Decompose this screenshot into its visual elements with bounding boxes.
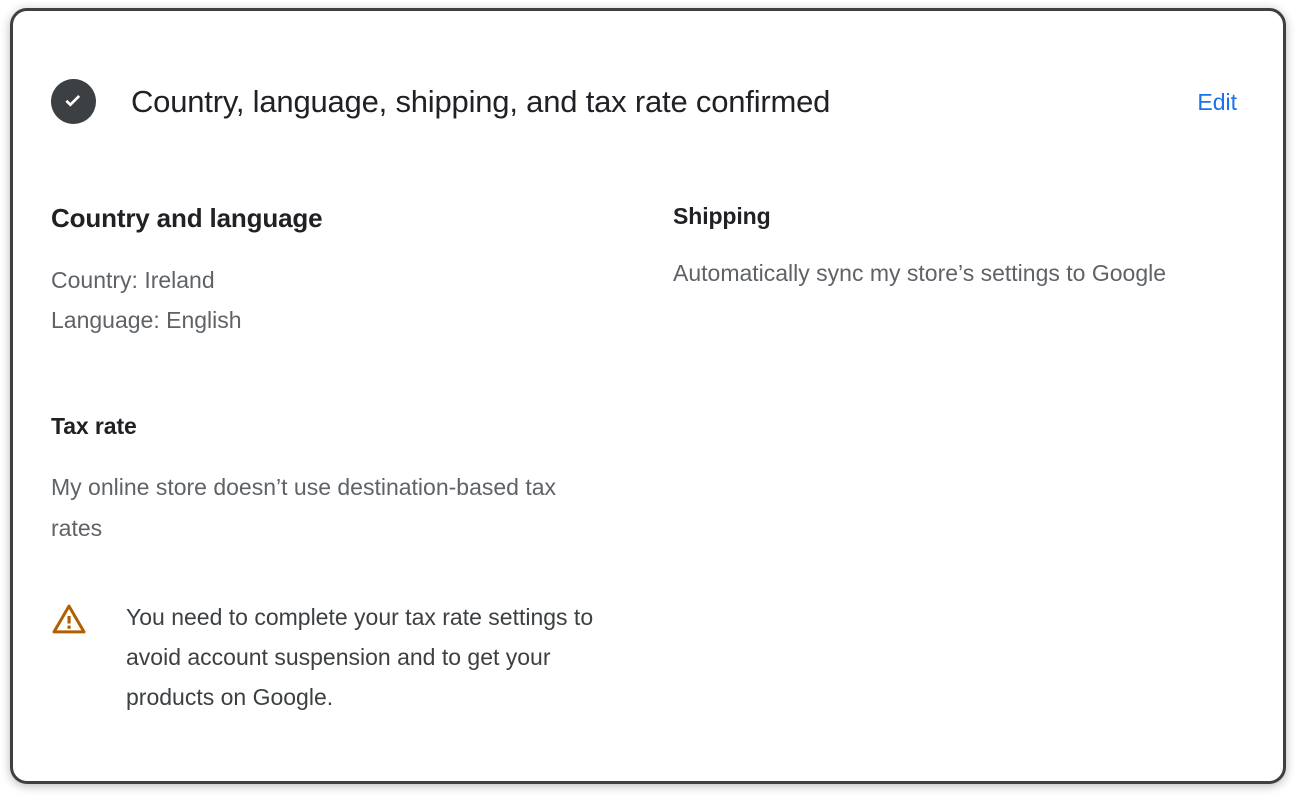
tax-rate-heading: Tax rate [51,411,651,441]
country-value: Country: Ireland [51,260,641,300]
card-inner: Country, language, shipping, and tax rat… [13,11,1283,781]
shipping-section: Shipping Automatically sync my store’s s… [673,201,1233,294]
tax-rate-section: Tax rate My online store doesn’t use des… [51,411,651,717]
page-title: Country, language, shipping, and tax rat… [131,82,830,122]
check-circle-icon [51,79,96,124]
shipping-heading: Shipping [673,201,1233,231]
shipping-value: Automatically sync my store’s settings t… [673,253,1213,294]
tax-rate-warning: You need to complete your tax rate setti… [51,597,651,717]
card-header: Country, language, shipping, and tax rat… [51,79,1245,124]
screen-root: Country, language, shipping, and tax rat… [0,0,1296,800]
warning-triangle-icon [51,601,87,637]
confirmation-card: Country, language, shipping, and tax rat… [10,8,1286,784]
edit-link[interactable]: Edit [1197,87,1245,117]
country-language-values: Country: Ireland Language: English [51,260,641,340]
country-language-heading: Country and language [51,201,641,235]
warning-message: You need to complete your tax rate setti… [126,597,626,717]
tax-rate-value: My online store doesn’t use destination-… [51,467,571,549]
language-value: Language: English [51,300,641,340]
country-language-section: Country and language Country: Ireland La… [51,201,641,340]
